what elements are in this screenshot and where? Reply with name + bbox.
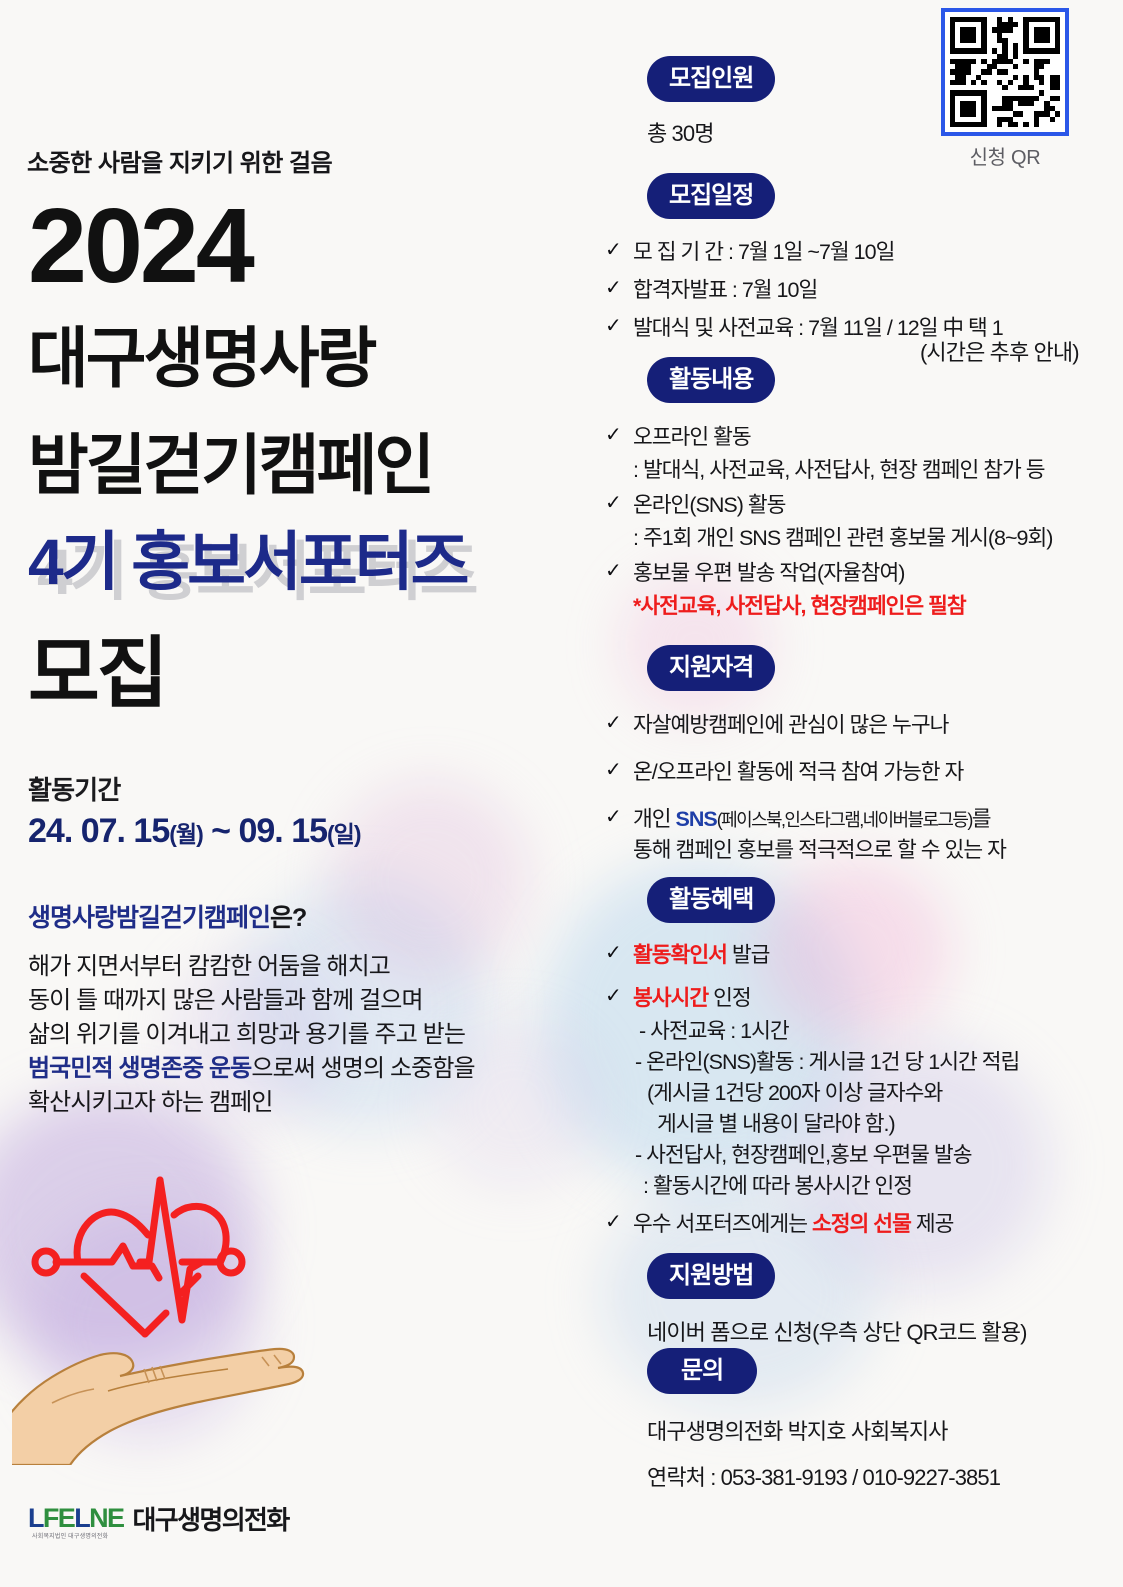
poster-title-line-1: 대구생명사랑 [28, 325, 374, 391]
list-item: ✓홍보물 우편 발송 작업(자율참여) [605, 558, 1123, 589]
eligibility-item-text: 자살예방캠페인에 관심이 많은 누구나 [633, 710, 1123, 741]
benefit-suffix: 제공 [911, 1212, 954, 1236]
benefit-item-text: 우수 서포터즈에게는 소정의 선물 제공 [633, 1209, 1123, 1240]
benefit-sub-line: (게시글 1건당 200자 이상 글자수와 [605, 1078, 1123, 1109]
activity-period-value: 24. 07. 15(월) ~ 09. 15(일) [28, 812, 361, 851]
eligibility-paren: (페이스북,인스타그램,네이버블로그등) [717, 810, 972, 830]
about-line-4-emphasis: 범국민적 생명존중 운동 [28, 1055, 251, 1082]
list-item: ✓봉사시간 인정 [605, 983, 1123, 1014]
benefit-item-text: 활동확인서 발급 [633, 940, 1123, 971]
eligibility-prefix: 개인 [633, 807, 676, 831]
list-item: ✓우수 서포터즈에게는 소정의 선물 제공 [605, 1209, 1123, 1240]
check-icon: ✓ [605, 757, 622, 784]
about-line-4: 범국민적 생명존중 운동으로써 생명의 소중함을 [28, 1052, 568, 1086]
benefit-emphasis: 활동확인서 [633, 943, 727, 967]
application-qr[interactable]: 신청 QR [935, 8, 1075, 170]
logo-l2: L [74, 1503, 89, 1533]
eligibility-line2: 통해 캠페인 홍보를 적극적으로 할 수 있는 자 [633, 838, 1006, 862]
benefit-sub-line: - 사전답사, 현장캠페인,홍보 우편물 발송 [605, 1140, 1123, 1171]
eligibility-item-text: 온/오프라인 활동에 적극 참여 가능한 자 [633, 757, 1123, 788]
activity-sub-text: : 주1회 개인 SNS 캠페인 관련 홍보물 게시(8~9회) [605, 523, 1123, 554]
list-item: ✓합격자발표 : 7월 10일 [605, 275, 1120, 306]
activity-sub-text: : 발대식, 사전교육, 사전답사, 현장 캠페인 참가 등 [605, 455, 1123, 486]
list-item: ✓온/오프라인 활동에 적극 참여 가능한 자 [605, 757, 1123, 788]
activity-main-text: 홍보물 우편 발송 작업(자율참여) [633, 558, 1123, 589]
check-icon: ✓ [605, 558, 622, 585]
check-icon: ✓ [605, 422, 622, 449]
poster-right-column: 신청 QR 모집인원 총 30명 모집일정 ✓모 집 기 간 : 7월 1일 ~… [600, 0, 1123, 1587]
period-separator: ~ 09. 15 [203, 812, 327, 850]
about-body: 해가 지면서부터 캄캄한 어둠을 해치고 동이 틀 때까지 많은 사람들과 함께… [28, 950, 568, 1120]
benefit-rest: 발급 [727, 943, 770, 967]
contact-person: 대구생명의전화 박지호 사회복지사 [647, 1416, 948, 1448]
about-line-3: 삶의 위기를 이겨내고 희망과 용기를 주고 받는 [28, 1018, 568, 1052]
lifeline-wordmark: LFELNE [28, 1505, 123, 1532]
poster-title-highlight: 4기 홍보서포터즈 [28, 530, 467, 594]
check-icon: ✓ [605, 940, 622, 967]
schedule-item-text: 합격자발표 : 7월 10일 [633, 275, 1120, 306]
activity-main-text: 온라인(SNS) 활동 [633, 490, 1123, 521]
logo-l1: L [28, 1503, 43, 1533]
eligibility-sns: SNS [676, 807, 717, 831]
badge-schedule-wrap: 모집일정 [647, 173, 775, 219]
check-icon: ✓ [605, 490, 622, 517]
logo-ne: NE [89, 1503, 123, 1533]
logo-fe: FE [43, 1503, 74, 1533]
list-item: ✓오프라인 활동 [605, 422, 1123, 453]
benefit-prefix: 우수 서포터즈에게는 [633, 1212, 812, 1236]
activity-main-text: 오프라인 활동 [633, 422, 1123, 453]
heart-ekg-on-hand-illustration [12, 1145, 342, 1465]
badge-benefits-wrap: 활동혜택 [647, 877, 775, 923]
about-question-campaign: 생명사랑밤길걷기캠페인 [28, 904, 270, 932]
about-question: 생명사랑밤길걷기캠페인은? [28, 898, 306, 934]
list-item: ✓모 집 기 간 : 7월 1일 ~7월 10일 [605, 237, 1120, 268]
about-line-1: 해가 지면서부터 캄캄한 어둠을 해치고 [28, 950, 568, 984]
benefit-sub-line: : 활동시간에 따라 봉사시간 인정 [605, 1171, 1123, 1202]
badge-contact: 문의 [647, 1348, 757, 1394]
schedule-item-text: 모 집 기 간 : 7월 1일 ~7월 10일 [633, 237, 1120, 268]
list-item: ✓온라인(SNS) 활동 [605, 490, 1123, 521]
poster-title-line-4: 모집 [28, 634, 166, 712]
how-to-apply-text: 네이버 폼으로 신청(우측 상단 QR코드 활용) [647, 1317, 1027, 1349]
period-end-day: (일) [327, 821, 360, 847]
badge-headcount-wrap: 모집인원 [647, 56, 775, 102]
badge-schedule: 모집일정 [647, 173, 775, 219]
schedule-list: ✓모 집 기 간 : 7월 1일 ~7월 10일 ✓합격자발표 : 7월 10일… [605, 237, 1120, 351]
badge-contact-wrap: 문의 [647, 1348, 757, 1394]
badge-eligibility-wrap: 지원자격 [647, 645, 775, 691]
period-start-day: (월) [169, 821, 202, 847]
badge-activities-wrap: 활동내용 [647, 357, 775, 403]
list-item: ✓활동확인서 발급 [605, 940, 1123, 971]
period-start: 24. 07. 15 [28, 812, 169, 850]
badge-how-to-apply: 지원방법 [647, 1253, 775, 1299]
about-question-suffix: 은? [270, 904, 306, 932]
qr-caption: 신청 QR [935, 141, 1075, 170]
poster-title-line-2: 밤길걷기캠페인 [28, 432, 432, 498]
activity-period-label: 활동기간 [28, 770, 120, 807]
eligibility-list: ✓자살예방캠페인에 관심이 많은 누구나 ✓온/오프라인 활동에 적극 참여 가… [605, 710, 1123, 873]
eligibility-suffix: 를 [972, 807, 991, 831]
check-icon: ✓ [605, 1209, 622, 1236]
schedule-note: (시간은 추후 안내) [920, 337, 1079, 369]
badge-activities: 활동내용 [647, 357, 775, 403]
qr-code-image[interactable] [941, 8, 1069, 136]
about-line-4-rest: 으로써 생명의 소중함을 [251, 1055, 474, 1082]
check-icon: ✓ [605, 983, 622, 1010]
about-line-2: 동이 틀 때까지 많은 사람들과 함께 걸으며 [28, 984, 568, 1018]
check-icon: ✓ [605, 710, 622, 737]
badge-eligibility: 지원자격 [647, 645, 775, 691]
list-item: ✓개인 SNS(페이스북,인스타그램,네이버블로그등)를통해 캠페인 홍보를 적… [605, 804, 1123, 866]
badge-how-to-apply-wrap: 지원방법 [647, 1253, 775, 1299]
eligibility-item-text: 개인 SNS(페이스북,인스타그램,네이버블로그등)를통해 캠페인 홍보를 적극… [633, 804, 1123, 866]
benefit-sub-line: - 사전교육 : 1시간 [605, 1016, 1123, 1047]
benefit-sub-line: 게시글 별 내용이 달라야 함.) [605, 1109, 1123, 1140]
logo-subtext: 사회복지법인 대구생명의전화 [32, 1531, 108, 1540]
activities-list: ✓오프라인 활동 : 발대식, 사전교육, 사전답사, 현장 캠페인 참가 등 … [605, 422, 1123, 622]
benefit-rest: 인정 [708, 986, 751, 1010]
headcount-value: 총 30명 [647, 118, 714, 150]
poster-kicker: 소중한 사람을 지키기 위한 걸음 [27, 143, 332, 178]
activities-warning: *사전교육, 사전답사, 현장캠페인은 필참 [605, 591, 1123, 622]
list-item: ✓자살예방캠페인에 관심이 많은 누구나 [605, 710, 1123, 741]
benefit-emphasis: 소정의 선물 [812, 1212, 911, 1236]
logo-korean-name: 대구생명의전화 [132, 1500, 288, 1537]
benefit-emphasis: 봉사시간 [633, 986, 708, 1010]
poster-left-column: 소중한 사람을 지키기 위한 걸음 2024 대구생명사랑 밤길걷기캠페인 4기… [0, 0, 600, 1587]
check-icon: ✓ [605, 804, 622, 831]
about-line-5: 확산시키고자 하는 캠페인 [28, 1086, 568, 1120]
check-icon: ✓ [605, 275, 622, 302]
check-icon: ✓ [605, 313, 622, 340]
benefits-list: ✓활동확인서 발급 ✓봉사시간 인정 - 사전교육 : 1시간 - 온라인(SN… [605, 940, 1123, 1247]
benefit-sub-line: - 온라인(SNS)활동 : 게시글 1건 당 1시간 적립 [605, 1047, 1123, 1078]
badge-headcount: 모집인원 [647, 56, 775, 102]
contact-phone: 연락처 : 053-381-9193 / 010-9227-3851 [647, 1462, 1000, 1494]
badge-benefits: 활동혜택 [647, 877, 775, 923]
check-icon: ✓ [605, 237, 622, 264]
benefit-item-text: 봉사시간 인정 [633, 983, 1123, 1014]
poster-year: 2024 [28, 193, 252, 299]
